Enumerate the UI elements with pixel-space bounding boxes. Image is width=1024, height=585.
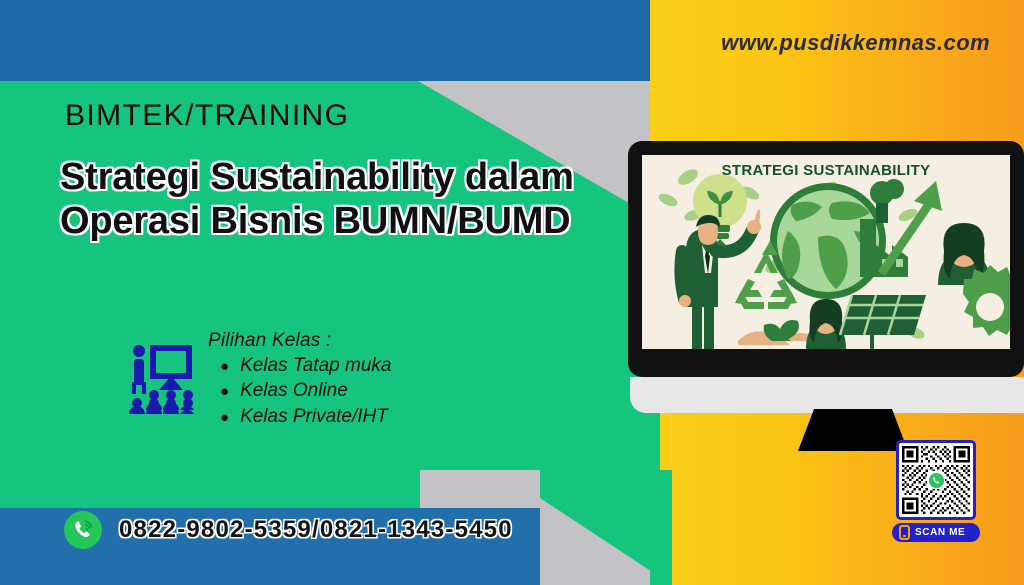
scan-me-badge[interactable]: SCAN ME xyxy=(892,523,980,542)
class-options-block: Pilihan Kelas : ● Kelas Tatap muka ● Kel… xyxy=(128,330,391,429)
kicker-label: BIMTEK/TRAINING xyxy=(65,99,349,133)
website-url: www.pusdikkemnas.com xyxy=(721,30,990,56)
poster-canvas: www.pusdikkemnas.com BIMTEK/TRAINING Str… xyxy=(0,0,1024,585)
bullet-icon: ● xyxy=(220,359,229,374)
list-item: ● Kelas Private/IHT xyxy=(220,404,391,429)
contact-row: 0822-9802-5359/0821-1343-5450 xyxy=(64,511,513,549)
mobile-phone-icon xyxy=(899,525,910,540)
woman-portrait-figure xyxy=(806,299,846,349)
background-green-right-strip xyxy=(650,470,672,585)
page-title-line-1: Strategi Sustainability dalam xyxy=(60,155,660,199)
phone-numbers: 0822-9802-5359/0821-1343-5450 xyxy=(119,516,513,544)
bullet-icon: ● xyxy=(220,384,229,399)
page-title: Strategi Sustainability dalam Operasi Bi… xyxy=(60,155,660,243)
page-title-line-2: Operasi Bisnis BUMN/BUMD xyxy=(60,199,660,243)
monitor-screen: STRATEGI SUSTAINABILITY xyxy=(642,155,1010,349)
class-options-title: Pilihan Kelas : xyxy=(208,330,391,352)
sustainability-illustration xyxy=(642,155,1010,349)
solar-panel-icon xyxy=(840,295,926,349)
background-blue-top-band xyxy=(0,0,650,81)
training-presentation-icon xyxy=(128,342,194,414)
screen-title: STRATEGI SUSTAINABILITY xyxy=(642,162,1010,179)
qr-code[interactable] xyxy=(896,440,976,520)
list-item-label: Kelas Tatap muka xyxy=(240,353,391,378)
scan-me-label: SCAN ME xyxy=(915,527,965,538)
bullet-icon: ● xyxy=(220,410,229,425)
whatsapp-icon xyxy=(927,471,945,489)
qr-code-block[interactable]: SCAN ME xyxy=(896,440,976,542)
list-item: ● Kelas Online xyxy=(220,378,391,403)
list-item-label: Kelas Private/IHT xyxy=(240,404,388,429)
whatsapp-phone-icon[interactable] xyxy=(64,511,102,549)
monitor-base xyxy=(630,377,1024,413)
monitor-stand xyxy=(798,409,908,451)
list-item: ● Kelas Tatap muka xyxy=(220,353,391,378)
class-options-text: Pilihan Kelas : ● Kelas Tatap muka ● Kel… xyxy=(208,330,391,429)
class-options-list: ● Kelas Tatap muka ● Kelas Online ● Kela… xyxy=(208,353,391,429)
monitor-illustration: STRATEGI SUSTAINABILITY xyxy=(628,141,1024,413)
list-item-label: Kelas Online xyxy=(240,378,348,403)
